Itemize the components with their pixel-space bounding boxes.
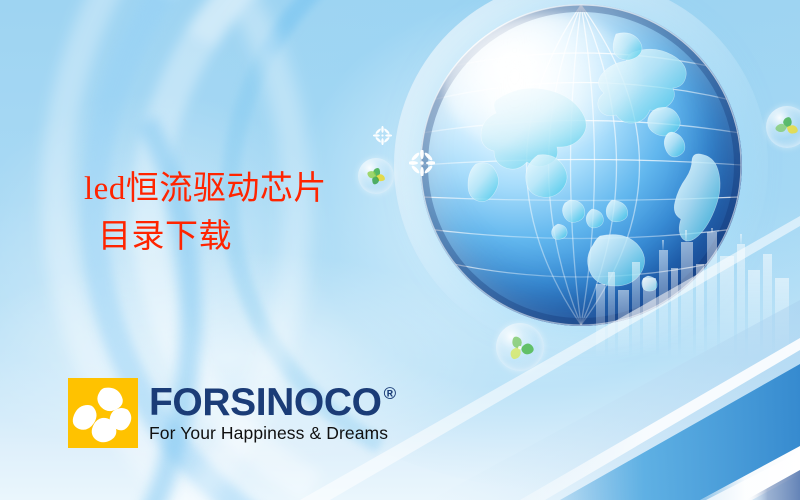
pinwheel-icon <box>505 332 535 362</box>
bubble-pinwheel-small <box>358 158 394 194</box>
earth-globe <box>420 4 742 326</box>
promo-banner: led恒流驱动芯片 目录下载 FORSINOCO ® For Your Happ… <box>0 0 800 500</box>
headline-line-1: led恒流驱动芯片 <box>84 166 327 214</box>
pinwheel-icon <box>365 165 387 187</box>
registered-trademark-symbol: ® <box>384 385 396 402</box>
daisy-flower-small-icon <box>373 126 392 145</box>
logo-wordmark-text: FORSINOCO <box>149 383 382 422</box>
headline: led恒流驱动芯片 目录下载 <box>84 166 327 261</box>
four-petal-pinwheel-icon <box>68 378 138 448</box>
daisy-flower-large-icon <box>409 150 435 176</box>
logo-text: FORSINOCO ® For Your Happiness & Dreams <box>149 383 396 443</box>
logo-wordmark: FORSINOCO ® <box>149 383 396 422</box>
bubble-pinwheel-edge <box>766 106 800 148</box>
globe-rim <box>420 4 742 326</box>
logo-tagline: For Your Happiness & Dreams <box>149 425 396 443</box>
globe-sphere <box>420 4 742 326</box>
bubble-pinwheel-large <box>496 323 544 371</box>
brand-logo: FORSINOCO ® For Your Happiness & Dreams <box>68 378 396 448</box>
headline-line-2: 目录下载 <box>98 214 327 262</box>
logo-mark <box>68 378 138 448</box>
pinwheel-icon <box>774 114 800 140</box>
